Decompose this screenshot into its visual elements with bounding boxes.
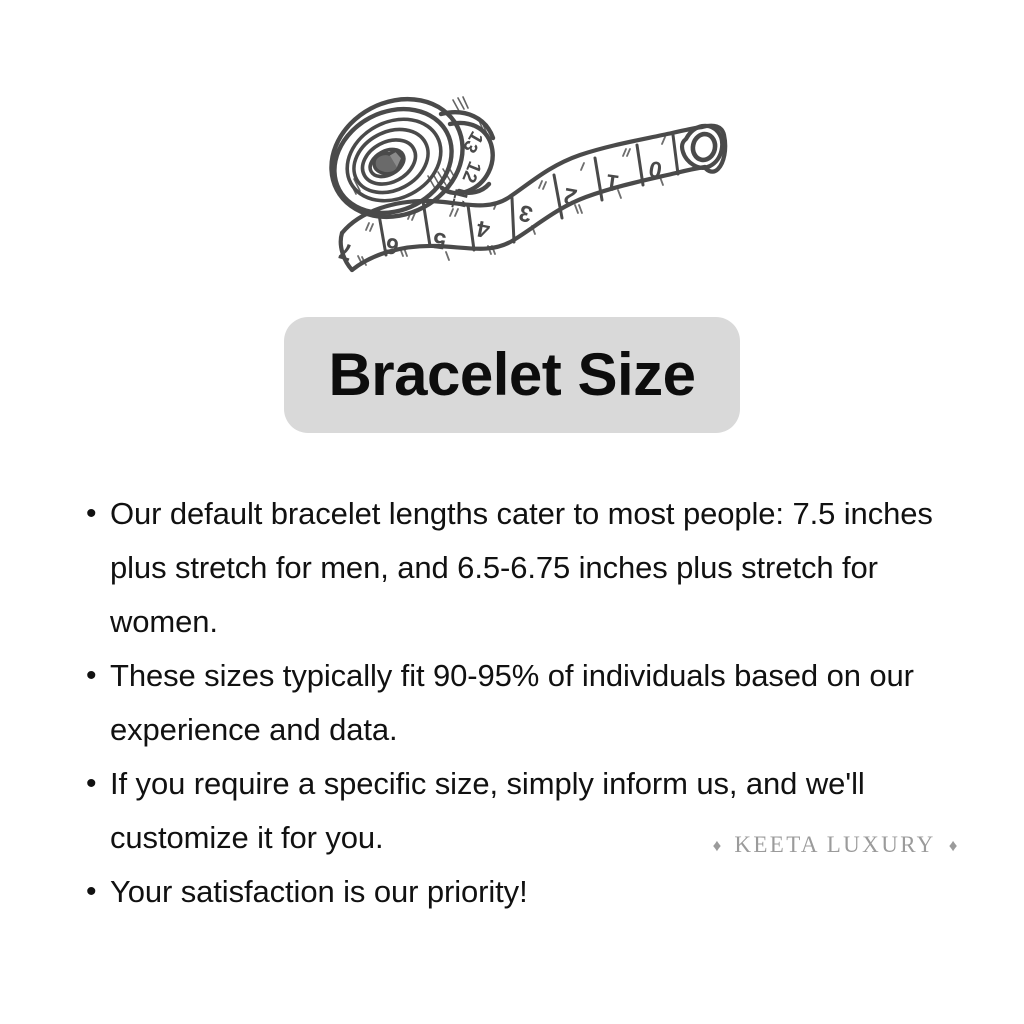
brand-watermark: ♦ KEETA LUXURY ♦ — [700, 832, 970, 858]
list-item-text: Your satisfaction is our priority! — [110, 865, 970, 919]
svg-text:3: 3 — [516, 200, 535, 229]
svg-text:4: 4 — [474, 216, 492, 244]
bullet-marker-icon: • — [80, 649, 110, 703]
page-title: Bracelet Size — [328, 345, 695, 405]
page-title-badge: Bracelet Size — [284, 317, 740, 433]
list-item-text: These sizes typically fit 90-95% of indi… — [110, 649, 970, 757]
tape-tick-separators — [378, 135, 678, 255]
bullet-marker-icon: • — [80, 487, 110, 541]
svg-text:1: 1 — [604, 169, 620, 197]
measuring-tape-illustration: 7 6 5 4 3 2 1 0 13 12 11 — [290, 78, 730, 293]
tape-roll-hub — [374, 150, 403, 174]
list-item: • Our default bracelet lengths cater to … — [80, 487, 970, 649]
list-item: • Your satisfaction is our priority! — [80, 865, 970, 919]
sparkle-icon-left: ♦ — [713, 837, 722, 854]
tape-end-eyelet — [682, 126, 725, 172]
svg-text:6: 6 — [383, 232, 401, 260]
svg-text:5: 5 — [431, 227, 447, 255]
list-item: • These sizes typically fit 90-95% of in… — [80, 649, 970, 757]
bullet-marker-icon: • — [80, 757, 110, 811]
brand-name: KEETA LUXURY — [734, 832, 935, 858]
bullet-marker-icon: • — [80, 865, 110, 919]
list-item-text: Our default bracelet lengths cater to mo… — [110, 487, 970, 649]
sparkle-icon-right: ♦ — [949, 837, 958, 854]
